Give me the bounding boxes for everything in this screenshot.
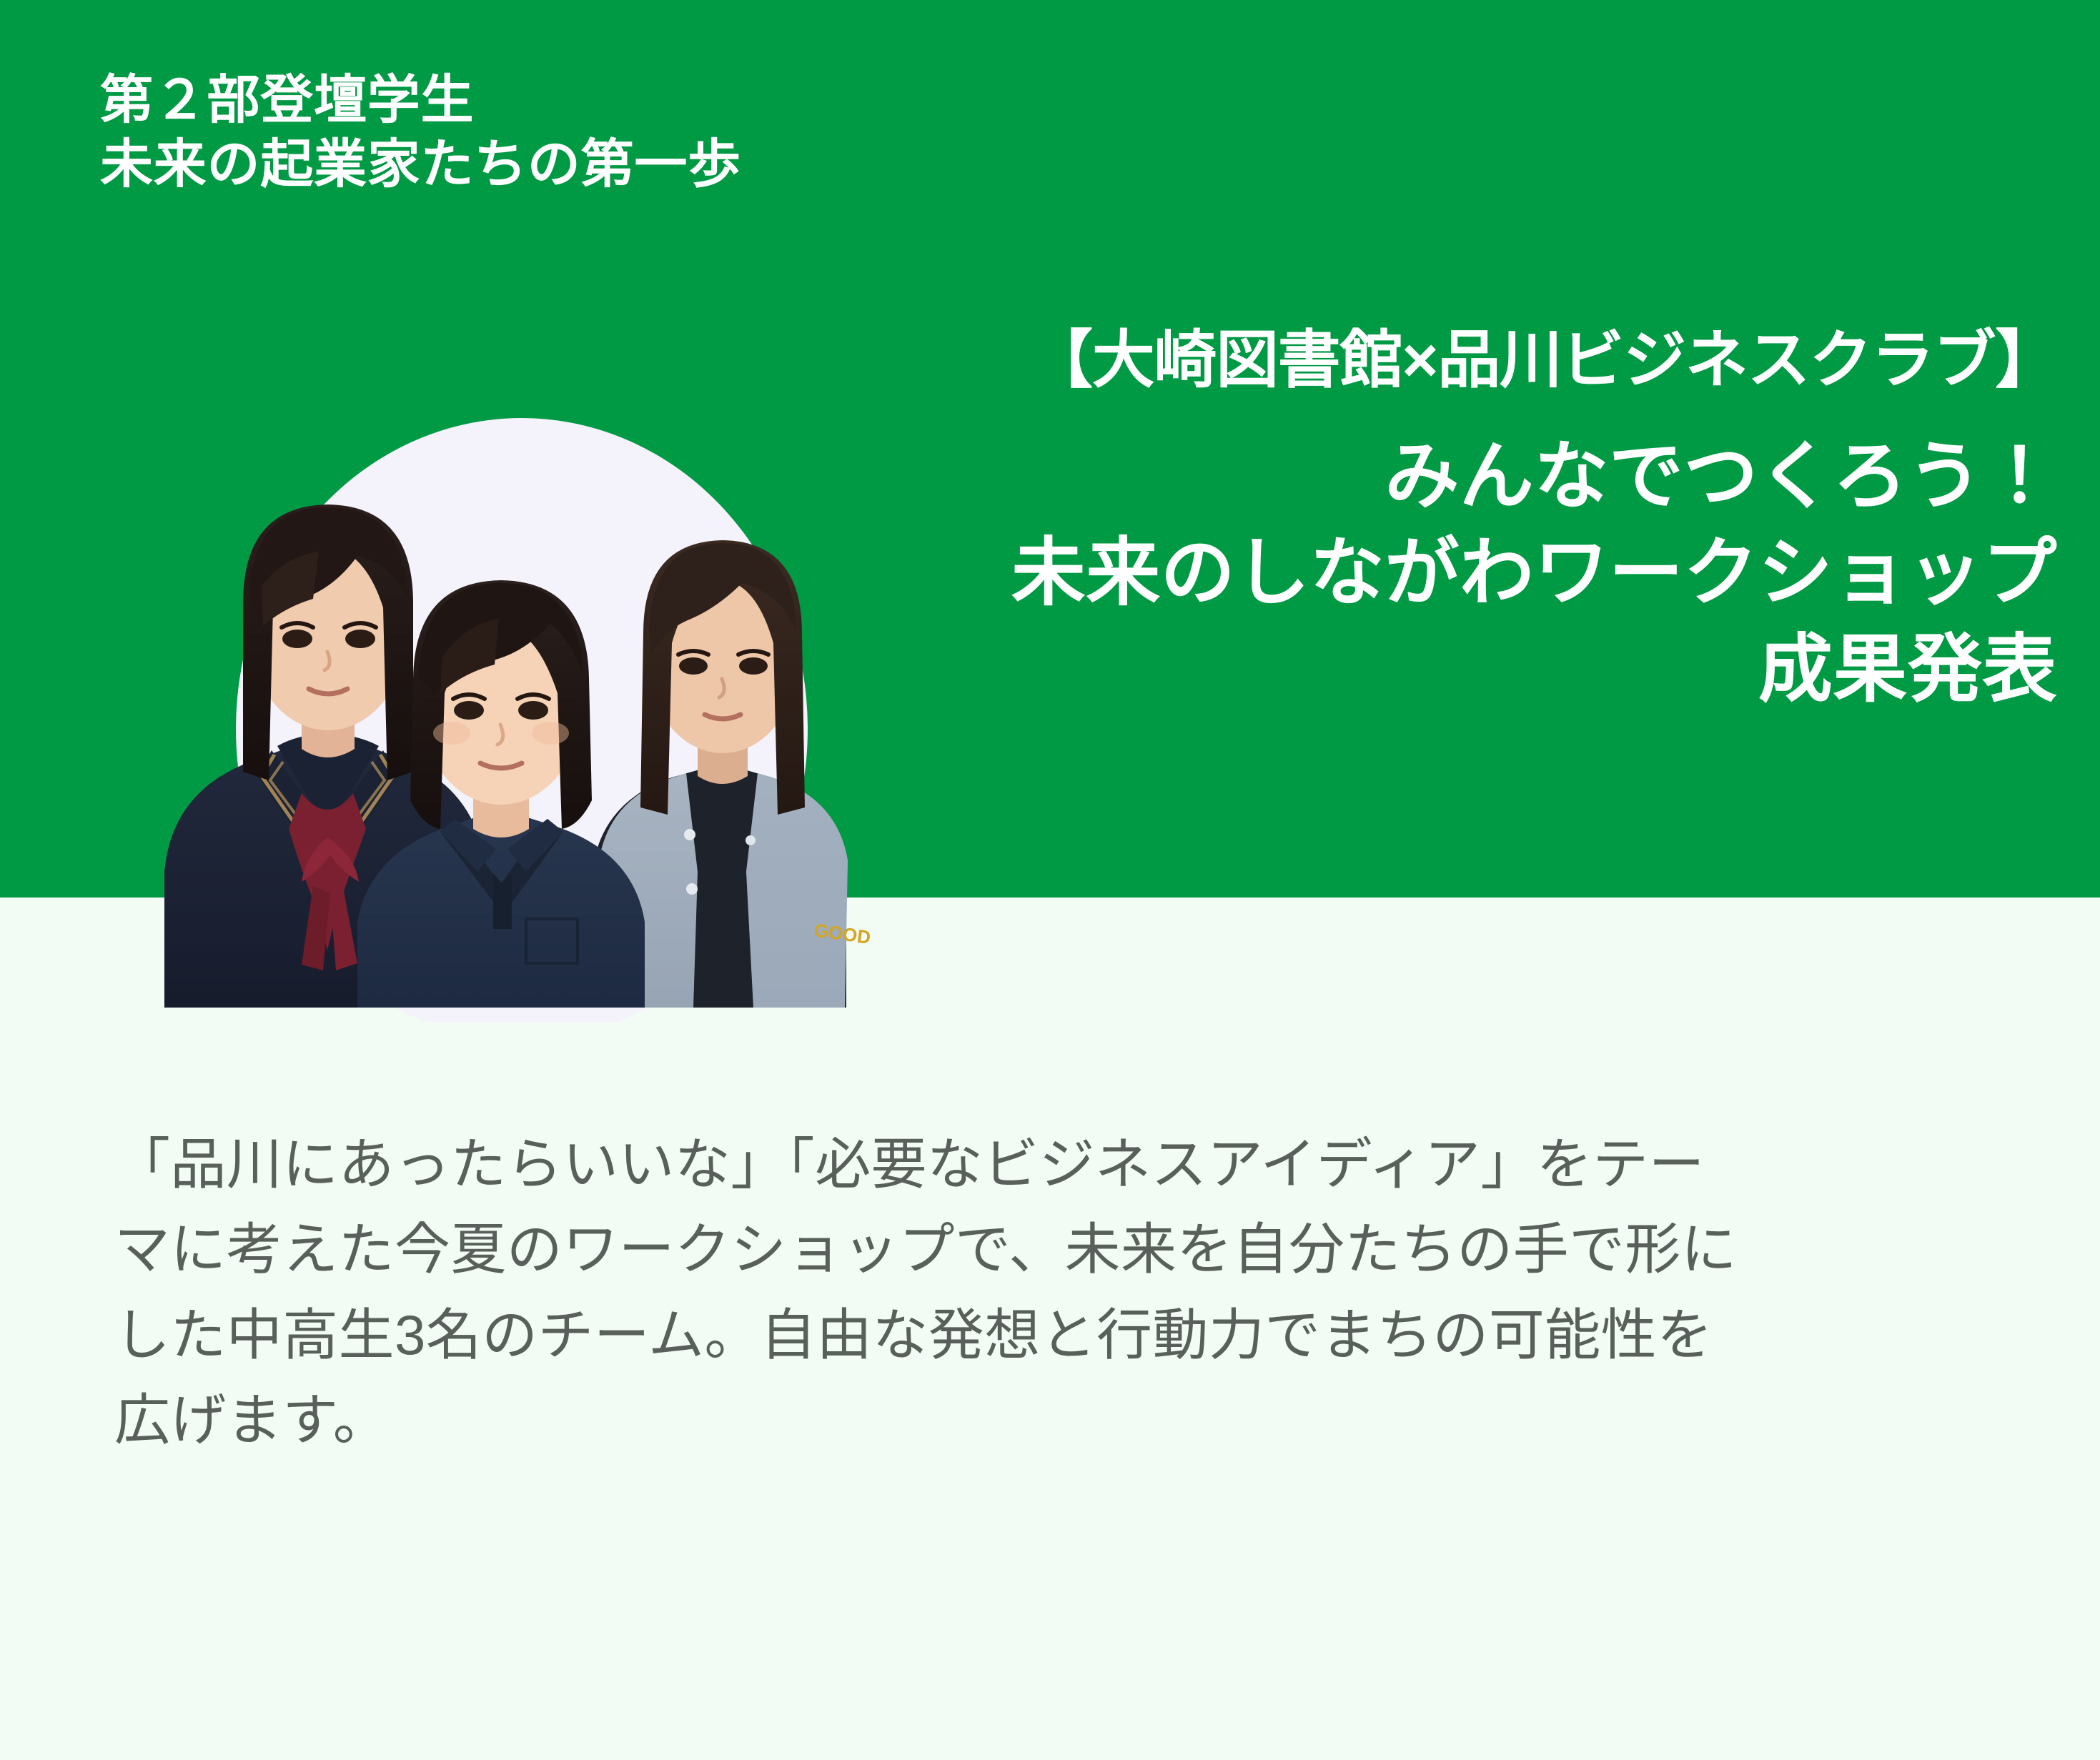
title-main-group: みんなでつくろう！ 未来のしながわワークショップ 成果発表 (728, 429, 2057, 719)
description-paragraph: 「品川にあったらいいな」「必要なビジネスアイディア」をテー マに考えた今夏のワー… (114, 1122, 2030, 1463)
title-main-line-3: 成果発表 (728, 622, 2057, 718)
title-main-line-2: 未来のしながわワークショップ (728, 525, 2057, 622)
description-line-1: 「品川にあったらいいな」「必要なビジネスアイディア」をテー (114, 1122, 2030, 1207)
header-line-2: 未来の起業家たちの第一歩 (100, 132, 741, 197)
header-line-1: 第２部登壇学生 (100, 68, 741, 132)
description-line-4: 広げます。 (114, 1378, 2030, 1463)
event-title-block: 【大崎図書館×品川ビジネスクラブ】 みんなでつくろう！ 未来のしながわワークショ… (728, 323, 2057, 718)
title-main-line-1: みんなでつくろう！ (728, 429, 2057, 525)
header-block: 第２部登壇学生 未来の起業家たちの第一歩 (100, 68, 741, 197)
description-line-3: した中高生3名のチーム。自由な発想と行動力でまちの可能性を (114, 1293, 2030, 1378)
title-bracket-line: 【大崎図書館×品川ビジネスクラブ】 (728, 323, 2057, 397)
description-line-2: マに考えた今夏のワークショップで、未来を自分たちの手で形に (114, 1207, 2030, 1292)
